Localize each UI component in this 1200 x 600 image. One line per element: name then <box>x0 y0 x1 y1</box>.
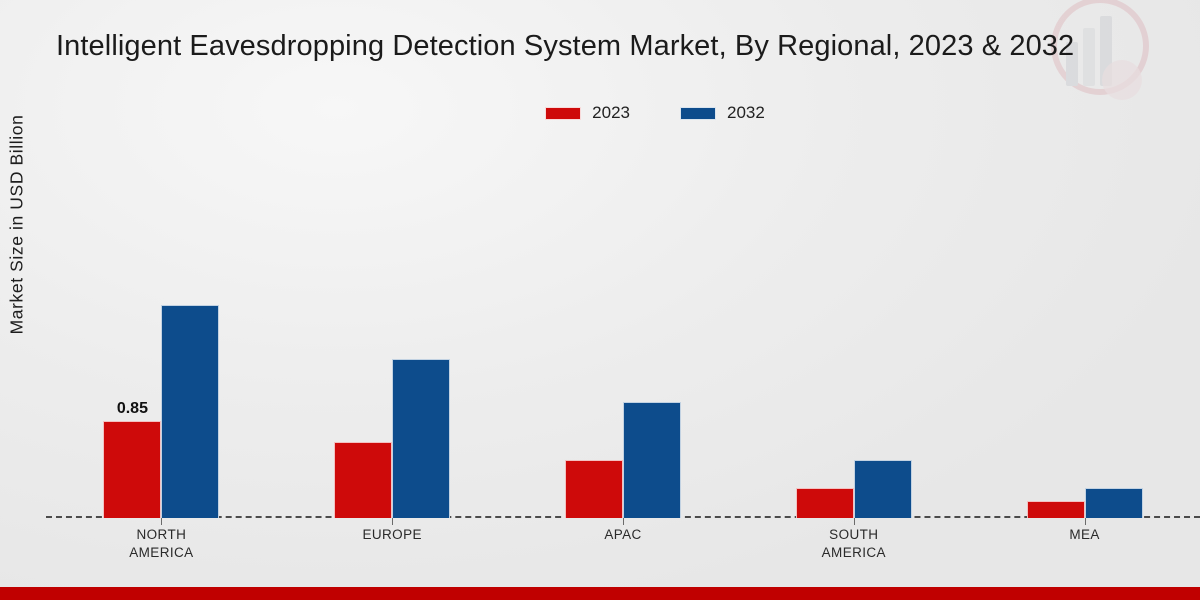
bar-2032-north-america[interactable] <box>161 305 219 518</box>
plot-area: 0.85 <box>46 140 1200 518</box>
x-axis-category-line: NORTH <box>46 526 276 544</box>
bar-2032-apac[interactable] <box>623 402 681 518</box>
bar-2023-south-america[interactable] <box>796 488 854 518</box>
bar-2032-europe[interactable] <box>392 359 450 518</box>
bar-2032-south-america[interactable] <box>854 460 912 518</box>
x-axis-category-line: AMERICA <box>46 544 276 562</box>
legend-label-2023: 2023 <box>592 103 630 123</box>
legend-label-2032: 2032 <box>727 103 765 123</box>
x-axis-category-line: APAC <box>508 526 738 544</box>
x-axis-category-label: EUROPE <box>277 526 507 544</box>
x-axis-category-line: EUROPE <box>277 526 507 544</box>
x-axis-category-label: SOUTHAMERICA <box>739 526 969 562</box>
x-axis-category-line: SOUTH <box>739 526 969 544</box>
bar-2023-mea[interactable] <box>1027 501 1085 518</box>
x-axis-tick <box>392 518 393 525</box>
bar-group: 0.85 <box>46 140 277 518</box>
bar-2023-apac[interactable] <box>565 460 623 518</box>
bar-group <box>738 140 969 518</box>
x-axis-category-label: MEA <box>970 526 1200 544</box>
bar-2023-europe[interactable] <box>334 442 392 518</box>
bar-group <box>277 140 508 518</box>
legend-item-2032[interactable]: 2032 <box>680 103 765 123</box>
x-axis-tick <box>854 518 855 525</box>
chart-figure: Intelligent Eavesdropping Detection Syst… <box>0 0 1200 600</box>
chart-legend: 2023 2032 <box>0 103 1200 123</box>
legend-item-2023[interactable]: 2023 <box>545 103 630 123</box>
y-axis-title: Market Size in USD Billion <box>7 60 28 390</box>
chart-title: Intelligent Eavesdropping Detection Syst… <box>56 30 1074 63</box>
x-axis-category-label: APAC <box>508 526 738 544</box>
legend-swatch-2023 <box>545 107 581 120</box>
bar-2023-north-america[interactable]: 0.85 <box>103 421 161 518</box>
bar-value-label: 0.85 <box>117 400 148 418</box>
x-axis-tick <box>161 518 162 525</box>
x-axis-category-label: NORTHAMERICA <box>46 526 276 562</box>
bar-2032-mea[interactable] <box>1085 488 1143 518</box>
bar-group <box>969 140 1200 518</box>
legend-swatch-2032 <box>680 107 716 120</box>
footer-accent-bar <box>0 587 1200 600</box>
x-axis-tick <box>1085 518 1086 525</box>
x-axis-category-line: AMERICA <box>739 544 969 562</box>
x-axis-tick <box>623 518 624 525</box>
bar-group <box>508 140 739 518</box>
x-axis-category-line: MEA <box>970 526 1200 544</box>
